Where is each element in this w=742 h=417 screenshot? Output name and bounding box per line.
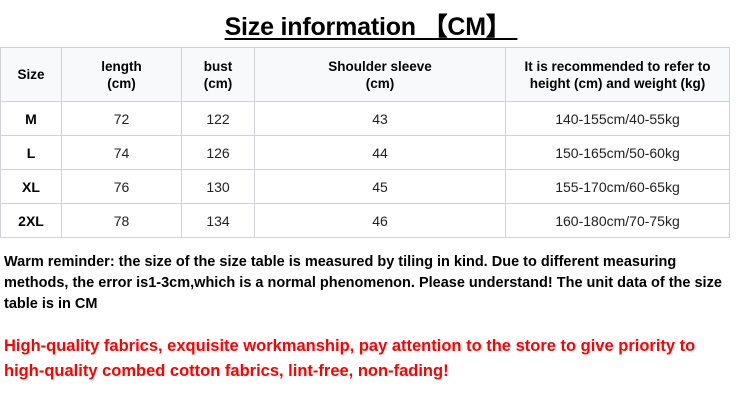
cell-bust: 134 [182,204,255,238]
column-header-size-main: Size [17,67,44,82]
column-header-length-main: length [101,59,142,74]
column-header-bust: bust (cm) [182,48,255,102]
cell-recommendation: 150-165cm/50-60kg [506,136,730,170]
column-header-bust-main: bust [204,59,233,74]
column-header-shoulder-sleeve-main: Shoulder sleeve [328,59,432,74]
page-title-container: Size information 【CM】 [0,0,742,40]
promo-note: High-quality fabrics, exquisite workmans… [4,334,734,384]
table-row: 2XL 78 134 46 160-180cm/70-75kg [1,204,730,238]
column-header-bust-unit: (cm) [182,75,254,92]
cell-bust: 126 [182,136,255,170]
size-table-body: M 72 122 43 140-155cm/40-55kg L 74 126 4… [1,102,730,238]
column-header-recommendation-main: It is recommended to refer to [524,59,710,74]
table-row: M 72 122 43 140-155cm/40-55kg [1,102,730,136]
column-header-shoulder-sleeve-unit: (cm) [255,75,505,92]
cell-recommendation: 155-170cm/60-65kg [506,170,730,204]
cell-size: 2XL [1,204,62,238]
cell-size: M [1,102,62,136]
column-header-recommendation-sub: height (cm) and weight (kg) [506,75,729,92]
column-header-length-unit: (cm) [62,75,181,92]
column-header-recommendation: It is recommended to refer to height (cm… [506,48,730,102]
cell-bust: 130 [182,170,255,204]
warm-reminder-note: Warm reminder: the size of the size tabl… [4,252,734,315]
column-header-shoulder-sleeve: Shoulder sleeve (cm) [255,48,506,102]
cell-length: 78 [62,204,182,238]
cell-size: XL [1,170,62,204]
table-row: XL 76 130 45 155-170cm/60-65kg [1,170,730,204]
cell-shoulder-sleeve: 45 [255,170,506,204]
column-header-size: Size [1,48,62,102]
size-table-header: Size length (cm) bust (cm) Shoulder slee… [1,48,730,102]
cell-length: 76 [62,170,182,204]
cell-recommendation: 160-180cm/70-75kg [506,204,730,238]
cell-bust: 122 [182,102,255,136]
table-header-row: Size length (cm) bust (cm) Shoulder slee… [1,48,730,102]
column-header-length: length (cm) [62,48,182,102]
size-information-page: Size information 【CM】 Size length (cm) b… [0,0,742,417]
cell-shoulder-sleeve: 44 [255,136,506,170]
cell-shoulder-sleeve: 43 [255,102,506,136]
size-table: Size length (cm) bust (cm) Shoulder slee… [0,47,730,238]
cell-size: L [1,136,62,170]
cell-length: 72 [62,102,182,136]
cell-length: 74 [62,136,182,170]
page-title: Size information 【CM】 [225,7,518,43]
cell-recommendation: 140-155cm/40-55kg [506,102,730,136]
cell-shoulder-sleeve: 46 [255,204,506,238]
table-row: L 74 126 44 150-165cm/50-60kg [1,136,730,170]
